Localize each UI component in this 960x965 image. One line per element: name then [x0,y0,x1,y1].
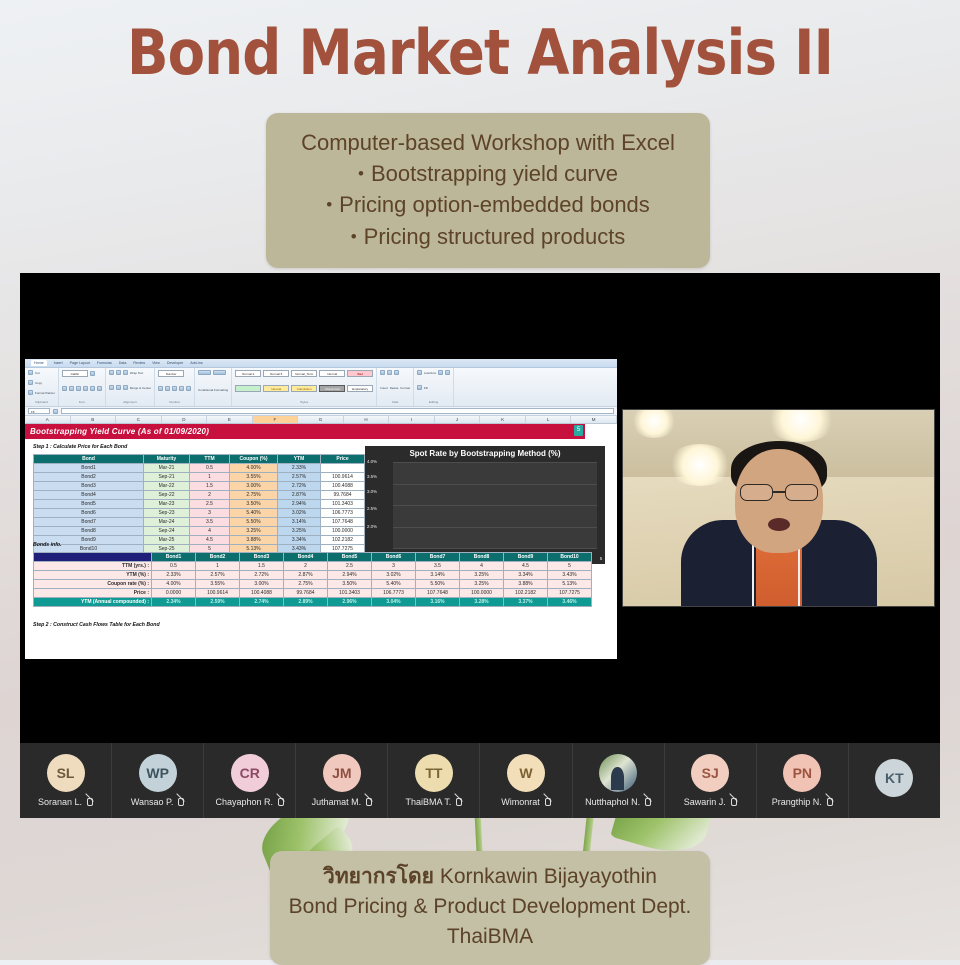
mic-muted-icon [176,798,184,807]
avatar: SL [47,754,85,792]
style-neutral[interactable]: Neutral [263,385,289,392]
excel-ribbon[interactable]: Cut Copy Format Painter Clipboard Calibr… [25,368,617,407]
font-color-icon[interactable] [97,386,102,391]
column-header-k[interactable]: K [480,416,526,423]
th-ytm: YTM [278,455,321,464]
caption-thai-prefix: วิทยากรโดย [323,865,434,888]
align-bottom-icon[interactable] [123,370,128,375]
cell[interactable]: 2.75% [284,580,328,589]
row-label-ttm: TTM (yrs.) : [34,562,152,571]
th-bond8: Bond8 [460,553,504,562]
mic-muted-icon [543,798,551,807]
cell[interactable]: 3.25% [460,571,504,580]
caption-speaker-name: Kornkawin Bijayayothin [440,865,657,888]
avatar: JM [323,754,361,792]
font-name-box[interactable]: Calibri [62,370,88,377]
cell-price[interactable]: 100.0000 [321,527,365,536]
cell-ytm[interactable]: 2.72% [278,482,321,491]
cell[interactable]: 2.72% [240,571,284,580]
bold-icon[interactable] [62,386,67,391]
excel-application: Home Insert Page Layout Formulas Data Re… [25,359,617,659]
mic-muted-icon [276,798,284,807]
spot-rate-chart[interactable]: Spot Rate by Bootstrapping Method (%) 2.… [365,446,605,564]
chart-ytick-1: 2.5% [367,506,377,511]
avatar: KT [875,759,913,797]
ribbon-tab-view[interactable]: View [152,361,160,365]
ribbon-group-number[interactable]: Number Number [155,368,195,406]
chart-plot-area [393,462,597,548]
cell-coupon[interactable]: 3.55% [230,473,278,482]
cell-ttm[interactable]: 4 [190,527,230,536]
cell-coupon[interactable]: 4.00% [230,464,278,473]
style-explanatory[interactable]: Explanatory [347,385,373,392]
mic-muted-icon [825,798,833,807]
excel-formula-bar-row[interactable]: F5 [25,407,617,416]
cell-price[interactable]: 101.3403 [321,500,365,509]
column-header-m[interactable]: M [571,416,617,423]
style-normal-2[interactable]: Normal 2 [235,370,261,377]
participant-name-row: Nutthaphol N. [585,797,651,807]
cell-ttm[interactable]: 0.5 [190,464,230,473]
ribbon-group-styles-label: Styles [235,400,373,404]
cell[interactable]: 3.04% [372,598,416,607]
conditional-formatting-label: Conditional Formatting [198,388,228,392]
cell-ttm[interactable]: 3.5 [190,518,230,527]
subtitle-bullet-2: Pricing option-embedded bonds [276,189,700,220]
bond-price-table[interactable]: Bond Maturity TTM Coupon (%) YTM Price B… [33,454,365,554]
copy-icon[interactable] [28,380,33,385]
cell[interactable]: 5.13% [548,580,592,589]
cell-ttm[interactable]: 1 [190,473,230,482]
chart-title: Spot Rate by Bootstrapping Method (%) [365,446,605,458]
caption-organization: ThaiBMA [282,922,698,952]
avatar: W [507,754,545,792]
chart-xtick-9: 5 [600,556,603,561]
name-box[interactable]: F5 [28,408,50,414]
merge-center-label[interactable]: Merge & Center [130,386,151,390]
screen-share-region: Home Insert Page Layout Formulas Data Re… [20,273,940,743]
cell[interactable]: 4.00% [152,580,196,589]
th-bond1: Bond1 [152,553,196,562]
percent-icon[interactable] [165,386,170,391]
fill-label: Fill [424,386,428,390]
ribbon-group-editing[interactable]: AutoSum Fill Editing [414,368,454,406]
participant-strip: SL Soranan L. WP Wansao P. CR Chayaphon … [20,743,940,818]
bonds-info-table[interactable]: Bond1 Bond2 Bond3 Bond4 Bond5 Bond6 Bond… [33,552,592,607]
cell[interactable]: 3.25% [460,580,504,589]
cell-bond[interactable]: Bond5 [34,500,144,509]
table-row: Bond6Sep-2335.40%3.02%106.7773 [34,509,365,518]
cell-ytm[interactable]: 3.02% [278,509,321,518]
style-good[interactable] [235,385,261,392]
th-ttm: TTM [190,455,230,464]
th-bond4: Bond4 [284,553,328,562]
style-normal-5[interactable]: Normal 5 [263,370,289,377]
formula-input[interactable] [61,408,614,414]
participant-tile[interactable]: SJ Sawarin J. [665,743,757,818]
column-header-j[interactable]: J [435,416,481,423]
avatar: CR [231,754,269,792]
format-label: Format [400,386,410,390]
participant-name-row: ThaiBMA T. [405,797,462,807]
cell-marker[interactable]: 5 [574,425,583,436]
worksheet-banner: Bootstrapping Yield Curve (As of 01/09/2… [25,424,585,439]
find-select-icon[interactable] [445,370,450,375]
chart-ytick-0: 2.0% [367,524,377,529]
mic-muted-icon [729,798,737,807]
decrease-decimal-icon[interactable] [186,386,191,391]
insert-function-icon[interactable] [53,409,58,414]
bonds-info-label: Bonds info. [33,542,62,548]
participant-tile[interactable]: WP Wansao P. [112,743,204,818]
font-size-box[interactable] [90,371,95,376]
table-row: Bond3Mar-221.53.00%2.72%100.4088 [34,482,365,491]
autosum-icon[interactable] [417,370,422,375]
ribbon-group-cells-label: Cells [380,400,410,404]
column-header-h[interactable]: H [344,416,390,423]
ribbon-tab-formulas[interactable]: Formulas [97,361,112,365]
cell-bond[interactable]: Bond3 [34,482,144,491]
style-normal[interactable]: Normal [319,370,345,377]
style-normal-term[interactable]: Normal_Term [291,370,317,377]
cell[interactable]: 3.50% [328,580,372,589]
cell-price[interactable]: 106.7773 [321,509,365,518]
increase-decimal-icon[interactable] [179,386,184,391]
excel-worksheet[interactable]: Bootstrapping Yield Curve (As of 01/09/2… [25,424,617,659]
row-label-coupon: Coupon rate (%) : [34,580,152,589]
cell-maturity[interactable]: Sep-23 [144,509,190,518]
row-label-price: Price : [34,589,152,598]
participant-name: ThaiBMA T. [405,797,451,807]
insert-cells-icon[interactable] [380,370,385,375]
cell-price[interactable]: 99.7684 [321,491,365,500]
conditional-formatting-icon[interactable] [198,370,211,375]
cell[interactable]: 2.94% [328,571,372,580]
ribbon-tab-addins[interactable]: Add-Ins [190,361,202,365]
align-right-icon[interactable] [123,385,128,390]
cell-ttm[interactable]: 3 [190,509,230,518]
cell-bond[interactable]: Bond2 [34,473,144,482]
cell[interactable]: 2.74% [240,598,284,607]
cell[interactable]: 2.57% [196,571,240,580]
cell[interactable]: 99.7684 [284,589,328,598]
avatar: TT [415,754,453,792]
fill-icon[interactable] [417,385,422,390]
participant-tile[interactable]: SL Soranan L. [20,743,112,818]
ribbon-group-font[interactable]: Calibri Font [59,368,106,406]
table-header-row: Bond Maturity TTM Coupon (%) YTM Price [34,455,365,464]
cell[interactable]: 100.4088 [240,589,284,598]
cell[interactable]: 100.9614 [196,589,240,598]
cell[interactable]: 4 [460,562,504,571]
ribbon-tab-home[interactable]: Home [31,360,47,366]
th-bond6: Bond6 [372,553,416,562]
ribbon-group-clipboard[interactable]: Cut Copy Format Painter Clipboard [25,368,59,406]
ribbon-group-clipboard-label: Clipboard [28,400,55,404]
cell[interactable]: 3.55% [196,580,240,589]
underline-icon[interactable] [76,386,81,391]
cell-coupon[interactable]: 3.50% [230,500,278,509]
step1-label: Step 1 : Calculate Price for Each Bond [33,444,127,450]
cell[interactable]: 1 [196,562,240,571]
align-top-icon[interactable] [109,370,114,375]
cell[interactable]: 0.0000 [152,589,196,598]
avatar: PN [783,754,821,792]
th-bond3: Bond3 [240,553,284,562]
cell-ttm[interactable]: 2 [190,491,230,500]
table-row: Price :0.0000100.9614100.408899.7684101.… [34,589,592,598]
column-header-a[interactable]: A [25,416,71,423]
table-row: TTM (yrs.) :0.511.522.533.544.55 [34,562,592,571]
cell-maturity[interactable]: Sep-22 [144,491,190,500]
speaker-caption-card: วิทยากรโดย Kornkawin Bijayayothin Bond P… [270,851,710,965]
table-row: Bond7Mar-243.55.50%3.14%107.7648 [34,518,365,527]
cell[interactable]: 3.14% [416,571,460,580]
participant-name-row: Soranan L. [38,797,93,807]
cell[interactable]: 4.5 [504,562,548,571]
participant-tile[interactable]: W Wimonrat [480,743,572,818]
cell[interactable]: 2 [284,562,328,571]
fill-color-icon[interactable] [90,386,95,391]
cell-ytm[interactable]: 2.87% [278,491,321,500]
table-row: Bond1Mar-210.54.00%2.33% [34,464,365,473]
cell-maturity[interactable]: Sep-21 [144,473,190,482]
ribbon-group-styles[interactable]: Normal 2 Normal 5 Normal_Term Normal Bad… [232,368,377,406]
table-header-row: Bond1 Bond2 Bond3 Bond4 Bond5 Bond6 Bond… [34,553,592,562]
participant-tile[interactable]: Nutthaphol N. [573,743,665,818]
th-bond10: Bond10 [548,553,592,562]
cell-price[interactable]: 100.4088 [321,482,365,491]
cell[interactable]: 3 [372,562,416,571]
cell[interactable]: 3.02% [372,571,416,580]
cell-price[interactable] [321,464,365,473]
ribbon-tab-review[interactable]: Review [133,361,145,365]
align-middle-icon[interactable] [116,370,121,375]
caption-line-1: วิทยากรโดย Kornkawin Bijayayothin [282,862,698,892]
cell[interactable]: 3.00% [240,580,284,589]
cell-maturity[interactable]: Sep-24 [144,527,190,536]
cut-icon[interactable] [28,370,33,375]
cell[interactable]: 101.3403 [328,589,372,598]
participant-name: Prangthip N. [772,797,822,807]
cell-ytm[interactable]: 3.14% [278,518,321,527]
column-header-f[interactable]: F [253,416,299,423]
mic-muted-icon [85,798,93,807]
subtitle-bullet-3: Pricing structured products [276,221,700,252]
subtitle-lead: Computer-based Workshop with Excel [276,127,700,158]
cell[interactable]: 2.34% [152,598,196,607]
excel-ribbon-tabs[interactable]: Home Insert Page Layout Formulas Data Re… [25,359,617,368]
step2-label: Step 2 : Construct Cash Flows Table for … [33,622,160,628]
subtitle-bullet-1: Bootstrapping yield curve [276,158,700,189]
participant-name: Wimonrat [501,797,540,807]
cell[interactable]: 5 [548,562,592,571]
cell[interactable]: 0.5 [152,562,196,571]
caption-department: Bond Pricing & Product Development Dept. [282,892,698,922]
cell-coupon[interactable]: 5.50% [230,518,278,527]
comma-icon[interactable] [172,386,177,391]
cell[interactable]: 3.37% [504,598,548,607]
chart-ytick-2: 3.0% [367,489,377,494]
cell-ytm[interactable]: 2.33% [278,464,321,473]
participant-name-row: Sawarin J. [684,797,737,807]
participant-name: Sawarin J. [684,797,726,807]
delete-cells-icon[interactable] [387,370,392,375]
ribbon-tab-insert[interactable]: Insert [54,361,63,365]
participant-name: Wansao P. [131,797,174,807]
style-check-cell[interactable]: Check Cell [319,385,345,392]
cell-ytm[interactable]: 3.25% [278,527,321,536]
cell[interactable]: 2.87% [284,571,328,580]
participant-name: Chayaphon R. [215,797,273,807]
cell[interactable]: 106.7773 [372,589,416,598]
style-bad[interactable]: Bad [347,370,373,377]
avatar: SJ [691,754,729,792]
cell-ttm[interactable]: 4.5 [190,536,230,545]
participant-name: Nutthaphol N. [585,797,640,807]
number-format-select[interactable]: Number [158,370,184,377]
sort-filter-icon[interactable] [438,370,443,375]
th-bond7: Bond7 [416,553,460,562]
wrap-text-label[interactable]: Wrap Text [130,371,143,375]
ribbon-tab-page-layout[interactable]: Page Layout [70,361,90,365]
cut-label: Cut [35,371,40,375]
table-row: Coupon rate (%) :4.00%3.55%3.00%2.75%3.5… [34,580,592,589]
participant-tile[interactable]: PN Prangthip N. [757,743,849,818]
cell-maturity[interactable]: Mar-23 [144,500,190,509]
cell[interactable]: 5.50% [416,580,460,589]
cell[interactable]: 3.28% [460,598,504,607]
participant-name: Juthamat M. [312,797,362,807]
cell-maturity[interactable]: Mar-21 [144,464,190,473]
column-header-l[interactable]: L [526,416,572,423]
cell-coupon[interactable]: 2.75% [230,491,278,500]
cell[interactable]: 3.34% [504,571,548,580]
cell-coupon[interactable]: 5.40% [230,509,278,518]
chart-ytick-3: 3.5% [367,474,377,479]
align-center-icon[interactable] [116,385,121,390]
participant-name: Soranan L. [38,797,82,807]
participant-tile[interactable]: TT ThaiBMA T. [388,743,480,818]
cell[interactable]: 2.89% [284,598,328,607]
italic-icon[interactable] [69,386,74,391]
table-row: YTM (%) :2.33%2.57%2.72%2.87%2.94%3.02%3… [34,571,592,580]
style-calculation[interactable]: Calculation [291,385,317,392]
cell[interactable]: 107.7648 [416,589,460,598]
insert-label: Insert [380,386,388,390]
format-cells-icon[interactable] [394,370,399,375]
cell-ytm[interactable]: 3.34% [278,536,321,545]
cell-maturity[interactable]: Mar-24 [144,518,190,527]
ribbon-group-conditional[interactable]: Conditional Formatting [195,368,232,406]
cell[interactable]: 2.5 [328,562,372,571]
cell[interactable]: 5.40% [372,580,416,589]
ribbon-group-alignment[interactable]: Wrap Text Merge & Center Alignment [106,368,155,406]
participant-tile[interactable]: KT [849,743,940,818]
cell[interactable]: 100.0000 [460,589,504,598]
table-row: Bond2Sep-2113.55%2.57%100.9614 [34,473,365,482]
cell-bond[interactable]: Bond6 [34,509,144,518]
cell-price[interactable]: 100.9614 [321,473,365,482]
cell-coupon[interactable]: 3.88% [230,536,278,545]
participant-name-row: Prangthip N. [772,797,833,807]
row-label-ytm: YTM (%) : [34,571,152,580]
column-header-b[interactable]: B [71,416,117,423]
format-as-table-icon[interactable] [213,370,226,375]
autosum-label: AutoSum [424,371,436,375]
cell[interactable]: 3.16% [416,598,460,607]
cell-ttm[interactable]: 2.5 [190,500,230,509]
th-maturity: Maturity [144,455,190,464]
cell[interactable]: 3.46% [548,598,592,607]
excel-column-headers[interactable]: A B C D E F G H I J K L M [25,416,617,424]
cell[interactable]: 3.88% [504,580,548,589]
cell-coupon[interactable]: 3.00% [230,482,278,491]
speaker-video-tile[interactable] [622,409,935,607]
subtitle-card: Computer-based Workshop with Excel Boots… [266,113,710,268]
participant-name-row: Wansao P. [131,797,185,807]
cell-ttm[interactable]: 1.5 [190,482,230,491]
cell-ytm[interactable]: 2.57% [278,473,321,482]
cell-maturity[interactable]: Mar-25 [144,536,190,545]
column-header-e[interactable]: E [207,416,253,423]
cell[interactable]: 2.96% [328,598,372,607]
cell[interactable]: 2.33% [152,571,196,580]
participant-name-row: Juthamat M. [312,797,373,807]
participant-tile[interactable]: CR Chayaphon R. [204,743,296,818]
align-left-icon[interactable] [109,385,114,390]
glasses-icon [740,484,818,501]
ribbon-group-cells[interactable]: InsertDeleteFormat Cells [377,368,414,406]
column-header-g[interactable]: G [298,416,344,423]
cell[interactable]: 1.5 [240,562,284,571]
column-header-d[interactable]: D [162,416,208,423]
table-row: Bond5Mar-232.53.50%2.94%101.3403 [34,500,365,509]
cell[interactable]: 107.7275 [548,589,592,598]
cell[interactable]: 2.59% [196,598,240,607]
cell-maturity[interactable]: Mar-22 [144,482,190,491]
cell-bond[interactable]: Bond4 [34,491,144,500]
cell-bond[interactable]: Bond1 [34,464,144,473]
ribbon-tab-developer[interactable]: Developer [167,361,183,365]
table-row: Bond8Sep-2443.25%3.25%100.0000 [34,527,365,536]
cell-bond[interactable]: Bond7 [34,518,144,527]
page-title: Bond Market Analysis II [58,22,903,84]
th-price: Price [321,455,365,464]
cell-price[interactable]: 107.7648 [321,518,365,527]
format-painter-icon[interactable] [28,390,33,395]
cell-price[interactable]: 102.2182 [321,536,365,545]
cell-coupon[interactable]: 3.25% [230,527,278,536]
cell-bond[interactable]: Bond8 [34,527,144,536]
column-header-c[interactable]: C [116,416,162,423]
column-header-i[interactable]: I [389,416,435,423]
border-icon[interactable] [83,386,88,391]
mic-muted-icon [454,798,462,807]
cell[interactable]: 102.2182 [504,589,548,598]
currency-icon[interactable] [158,386,163,391]
table-row-highlight: YTM (Annual compounded) :2.34%2.59%2.74%… [34,598,592,607]
cell-ytm[interactable]: 2.94% [278,500,321,509]
participant-name-row: Chayaphon R. [215,797,284,807]
participant-tile[interactable]: JM Juthamat M. [296,743,388,818]
row-label-ytm-annual: YTM (Annual compounded) : [34,598,152,607]
ribbon-group-font-label: Font [62,400,102,404]
cell[interactable]: 3.5 [416,562,460,571]
cell[interactable]: 3.43% [548,571,592,580]
ribbon-tab-data[interactable]: Data [119,361,127,365]
participant-name-row: Wimonrat [501,797,551,807]
